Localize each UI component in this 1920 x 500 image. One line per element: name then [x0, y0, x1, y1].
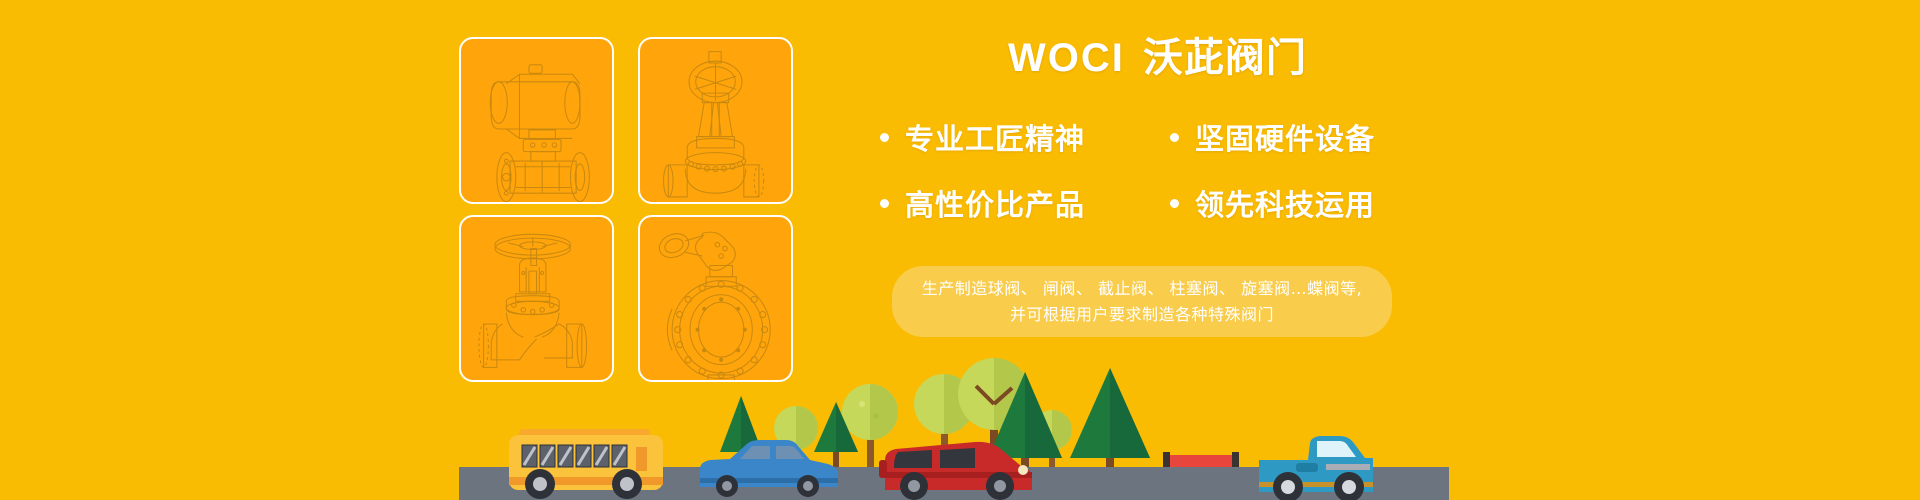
feature-label-2: 坚固硬件设备 [1195, 116, 1375, 158]
feature-item-1: 专业工匠精神 [880, 104, 1170, 170]
feature-item-4: 领先科技运用 [1170, 170, 1420, 236]
bullet-dot-icon [880, 133, 889, 142]
feature-label-1: 专业工匠精神 [905, 116, 1085, 158]
product-card-gate-valve[interactable] [638, 37, 793, 204]
pine-tree-icon [720, 396, 762, 468]
product-card-pneumatic-ball-valve[interactable] [459, 37, 614, 204]
brand-logo: WOCI 沃茈阀门 [880, 22, 1440, 78]
pneumatic-ball-valve-icon [461, 39, 612, 202]
butterfly-valve-icon [640, 217, 791, 380]
round-tree-icon [774, 406, 818, 468]
red-suv-icon [879, 442, 1032, 500]
round-tree-icon [842, 384, 898, 468]
gate-valve-icon [640, 39, 791, 202]
brand-chinese-name: 沃茈阀门 [1143, 38, 1307, 78]
bullet-dot-icon [1170, 133, 1179, 142]
feature-label-4: 领先科技运用 [1195, 182, 1375, 224]
pine-tree-icon [1070, 368, 1150, 468]
banner-content: WOCI 沃茈阀门 专业工匠精神 坚固硬件设备 高性价比产品 领先科技运用 生产… [880, 22, 1440, 337]
road [459, 467, 1449, 500]
product-card-globe-valve[interactable] [459, 215, 614, 382]
round-tree-icon [958, 358, 1030, 468]
pine-tree-icon [814, 402, 858, 468]
description-line-1: 生产制造球阀、 闸阀、 截止阀、 柱塞阀、 旋塞阀…蝶阀等, [922, 276, 1362, 302]
blue-pickup-icon [1259, 436, 1373, 500]
school-bus-icon [509, 429, 663, 499]
promo-banner: WOCI 沃茈阀门 专业工匠精神 坚固硬件设备 高性价比产品 领先科技运用 生产… [0, 0, 1920, 500]
bullet-dot-icon [1170, 199, 1179, 208]
product-card-grid [459, 37, 803, 382]
round-tree-icon [1032, 410, 1072, 468]
blue-sedan-icon [700, 440, 838, 497]
park-bench-icon [1163, 452, 1239, 497]
feature-label-3: 高性价比产品 [905, 182, 1085, 224]
description-pill: 生产制造球阀、 闸阀、 截止阀、 柱塞阀、 旋塞阀…蝶阀等, 并可根据用户要求制… [892, 266, 1392, 337]
feature-item-3: 高性价比产品 [880, 170, 1170, 236]
description-line-2: 并可根据用户要求制造各种特殊阀门 [1010, 302, 1274, 328]
globe-valve-icon [461, 217, 612, 380]
product-card-butterfly-valve[interactable] [638, 215, 793, 382]
pine-tree-icon [988, 372, 1062, 468]
round-tree-icon [914, 374, 974, 468]
feature-list: 专业工匠精神 坚固硬件设备 高性价比产品 领先科技运用 [880, 104, 1440, 236]
feature-item-2: 坚固硬件设备 [1170, 104, 1420, 170]
bullet-dot-icon [880, 199, 889, 208]
brand-latin-name: WOCI [1008, 38, 1125, 78]
